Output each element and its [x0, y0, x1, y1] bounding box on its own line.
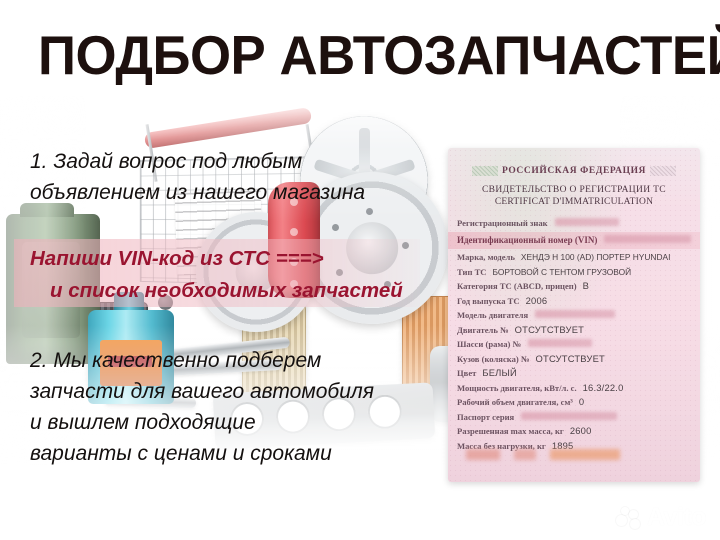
document-title-fr: CERTIFICAT D'IMMATRICULATION [448, 197, 700, 207]
document-title-ru: СВИДЕТЕЛЬСТВО О РЕГИСТРАЦИИ ТС [448, 185, 700, 195]
step-2-line-1: 2. Мы качественно подберем [30, 345, 374, 376]
document-field-value: БЕЛЫЙ [482, 366, 517, 381]
document-country-label: РОССИЙСКАЯ ФЕДЕРАЦИЯ [472, 166, 676, 176]
document-field-value: 0 [579, 395, 584, 410]
document-field-list: Регистрационный знакИдентификационный но… [448, 216, 700, 453]
document-field-label: Идентификационный номер (VIN) [457, 233, 597, 248]
document-field-label: Цвет [457, 366, 476, 381]
document-field-redacted [535, 310, 615, 318]
document-field-label: Кузов (коляска) № [457, 352, 530, 367]
vehicle-registration-document: РОССИЙСКАЯ ФЕДЕРАЦИЯ СВИДЕТЕЛЬСТВО О РЕГ… [448, 148, 700, 482]
avito-brand-label: Avito [647, 505, 706, 530]
document-field-label: Шасси (рама) № [457, 337, 521, 352]
document-field-row: Паспорт серия [457, 410, 691, 425]
document-field-label: Тип ТС [457, 265, 487, 280]
document-field-label: Разрешенная max масса, кг [457, 424, 564, 439]
document-field-row: Разрешенная max масса, кг2600 [457, 424, 691, 439]
document-field-redacted [528, 339, 592, 347]
document-field-label: Год выпуска ТС [457, 294, 520, 309]
document-field-value: ХЕНДЭ Н 100 (AD) ПОРТЕР HYUNDAI [521, 250, 671, 265]
document-field-value: 2600 [570, 424, 592, 439]
document-field-label: Марка, модель [457, 250, 515, 265]
page-title: ПОДБОР АВТОЗАПЧАСТЕЙ [38, 28, 720, 83]
document-field-value: ОТСУТСТВУЕТ [515, 323, 584, 338]
avito-watermark: Avito [616, 505, 706, 530]
document-field-label: Паспорт серия [457, 410, 514, 425]
document-field-row: ЦветБЕЛЫЙ [457, 366, 691, 381]
document-field-redacted [521, 412, 617, 420]
poster-canvas: ПОДБОР АВТОЗАПЧАСТЕЙ 1. Задай вопрос под… [0, 0, 720, 540]
document-field-row: Год выпуска ТС2006 [457, 294, 691, 309]
document-field-value: 2006 [526, 294, 548, 309]
document-field-row: Идентификационный номер (VIN) [448, 232, 700, 250]
document-field-row: Кузов (коляска) №ОТСУТСТВУЕТ [457, 352, 691, 367]
document-field-row: Регистрационный знак [457, 216, 691, 231]
document-field-label: Рабочий объем двигателя, см³ [457, 395, 573, 410]
document-field-redacted [555, 218, 619, 226]
document-field-value: ОТСУТСТВУЕТ [536, 352, 605, 367]
document-field-value: В [583, 279, 589, 294]
vin-note-line-2: и список необходимых запчастей [30, 275, 403, 307]
document-field-value: 16.3/22.0 [583, 381, 624, 396]
step-2-line-3: и вышлем подходящие [30, 407, 374, 438]
document-field-row: Тип ТСБОРТОВОЙ С ТЕНТОМ ГРУЗОВОЙ [457, 265, 691, 280]
document-field-label: Категория ТС (ABCD, прицеп) [457, 279, 577, 294]
document-field-row: Категория ТС (ABCD, прицеп)В [457, 279, 691, 294]
document-field-row: Марка, модельХЕНДЭ Н 100 (AD) ПОРТЕР HYU… [457, 250, 691, 265]
step-1-line-1: 1. Задай вопрос под любым [30, 146, 365, 177]
avito-dots-icon [616, 507, 642, 529]
document-field-value: БОРТОВОЙ С ТЕНТОМ ГРУЗОВОЙ [493, 265, 632, 280]
vin-note-text: Напиши VIN-код из СТС ===> и список необ… [30, 243, 403, 307]
step-2-line-2: запчасти для вашего автомобиля [30, 376, 374, 407]
document-footer-redacted [466, 449, 620, 460]
document-field-redacted [604, 235, 691, 243]
document-field-row: Модель двигателя [457, 308, 691, 323]
document-field-label: Регистрационный знак [457, 216, 548, 231]
document-field-row: Рабочий объем двигателя, см³0 [457, 395, 691, 410]
document-field-row: Шасси (рама) № [457, 337, 691, 352]
document-field-row: Двигатель №ОТСУТСТВУЕТ [457, 323, 691, 338]
document-field-label: Модель двигателя [457, 308, 528, 323]
vin-note-line-1: Напиши VIN-код из СТС ===> [30, 243, 403, 275]
step-2-line-4: варианты с ценами и сроками [30, 438, 374, 469]
document-field-row: Мощность двигателя, кВт/л. с.16.3/22.0 [457, 381, 691, 396]
document-field-label: Двигатель № [457, 323, 509, 338]
step-1-text: 1. Задай вопрос под любым объявлением из… [30, 146, 365, 208]
document-field-label: Мощность двигателя, кВт/л. с. [457, 381, 577, 396]
step-2-text: 2. Мы качественно подберем запчасти для … [30, 345, 374, 469]
document-header: РОССИЙСКАЯ ФЕДЕРАЦИЯ [448, 160, 700, 178]
step-1-line-2: объявлением из нашего магазина [30, 177, 365, 208]
